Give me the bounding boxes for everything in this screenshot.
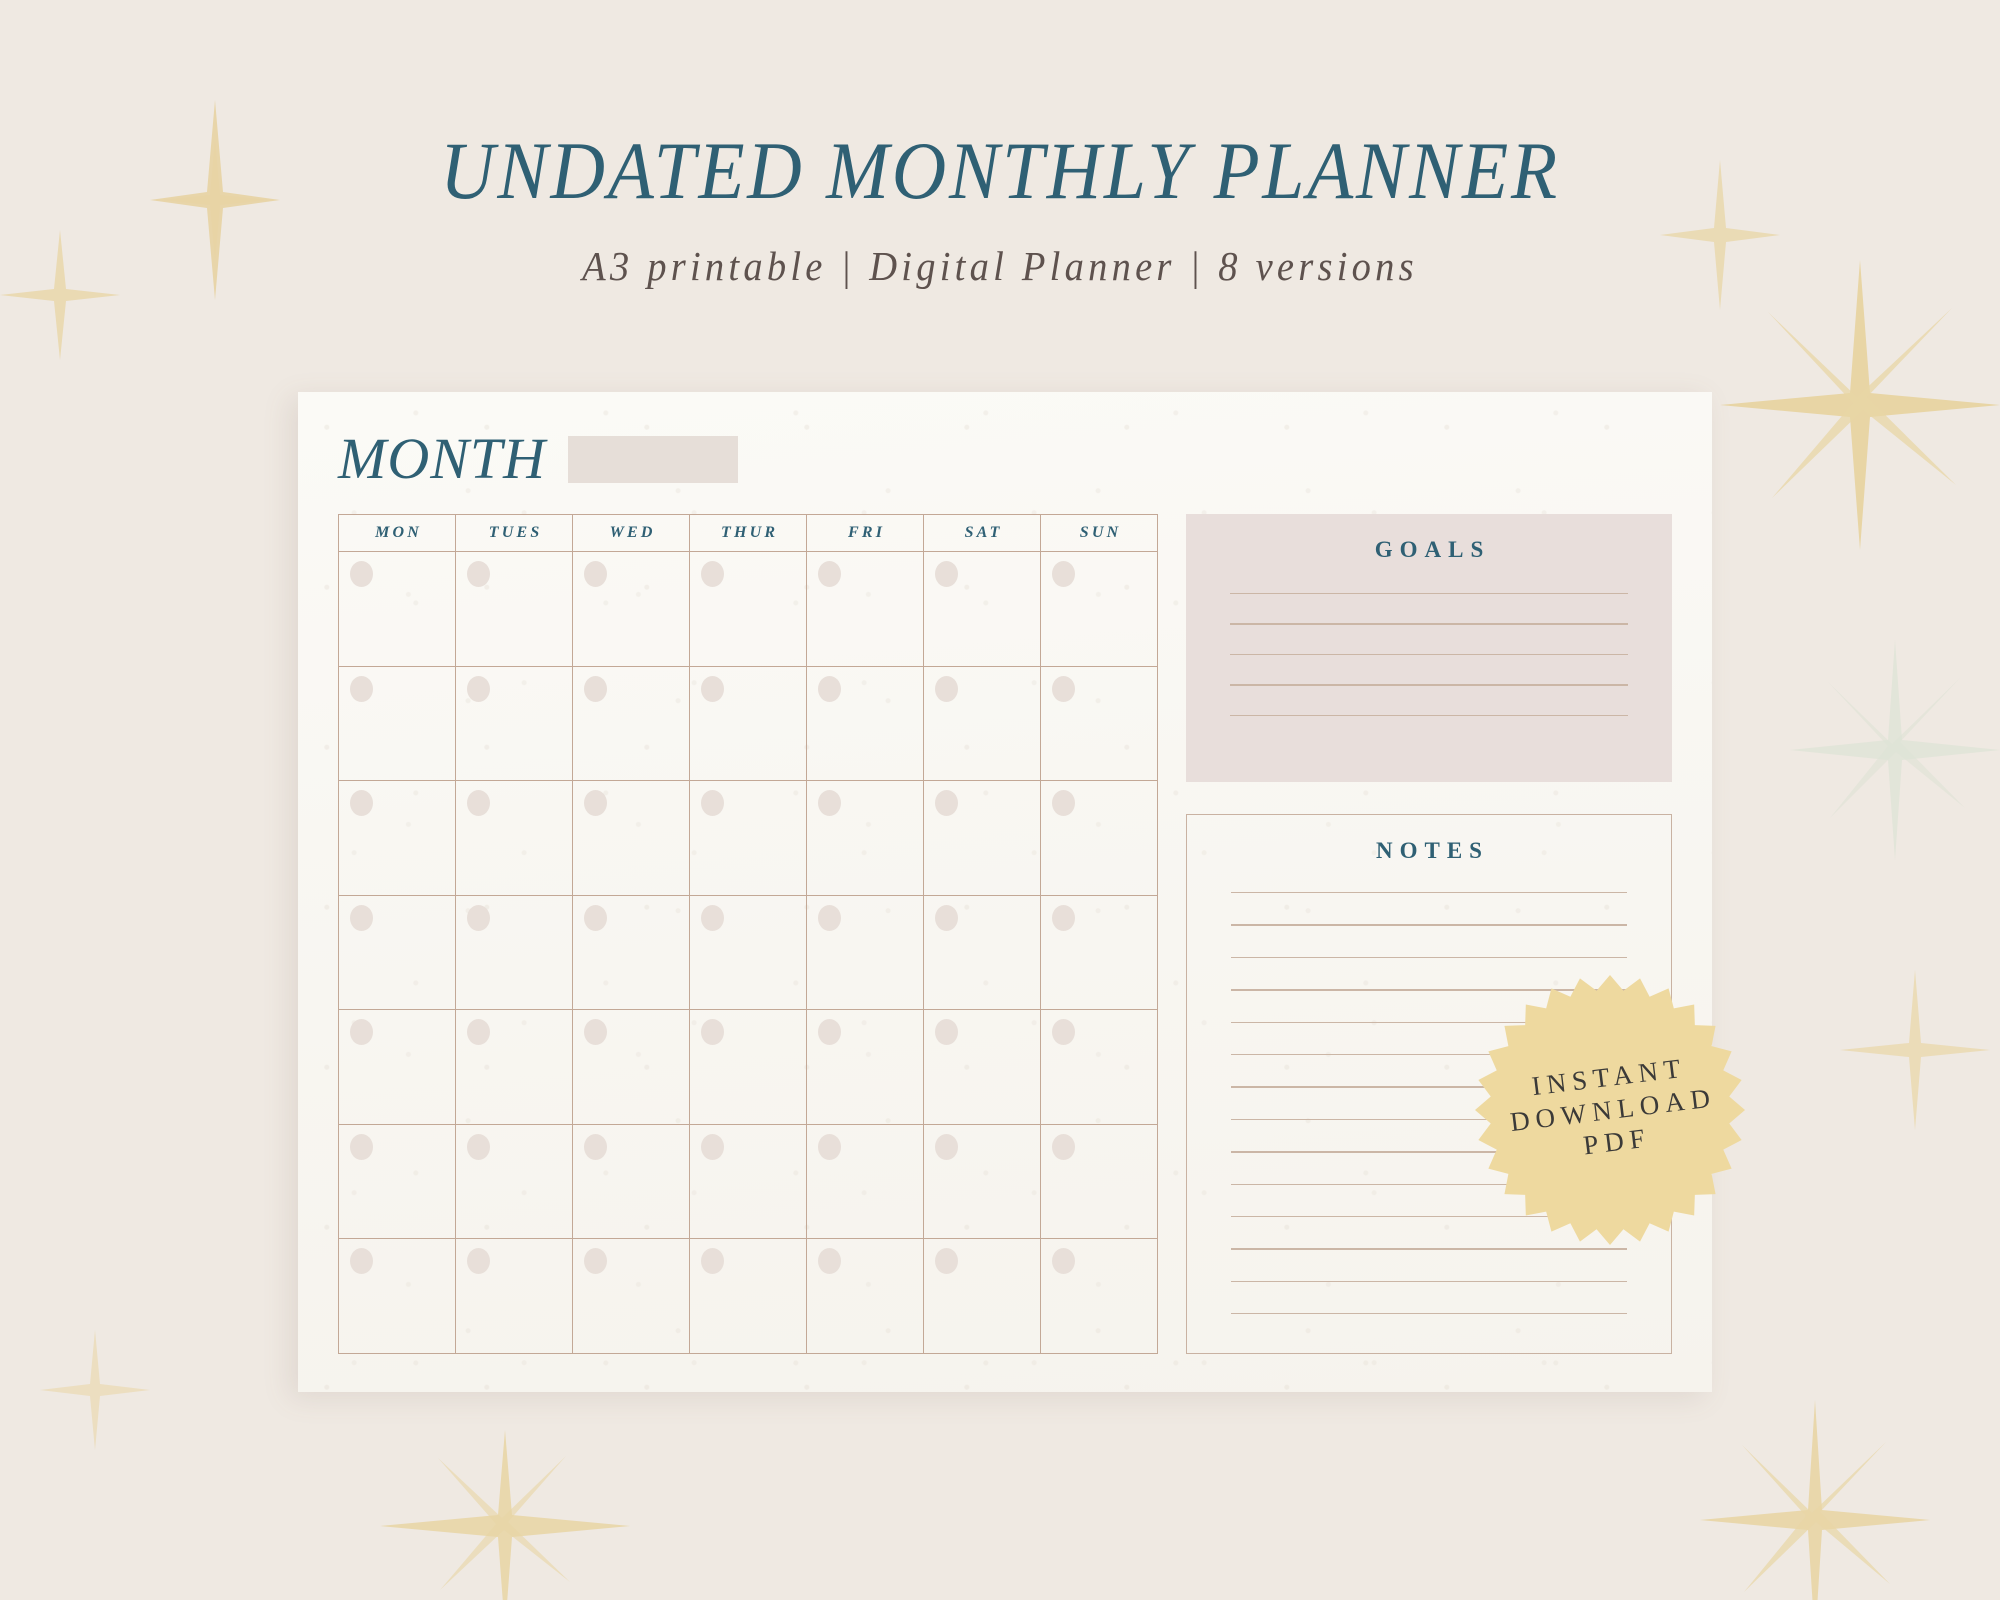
calendar-week-row	[339, 1239, 1158, 1353]
goals-write-line[interactable]	[1230, 715, 1628, 716]
day-number-dot	[350, 1248, 373, 1274]
goals-write-line[interactable]	[1230, 684, 1628, 685]
day-number-dot	[467, 1248, 490, 1274]
day-number-dot	[584, 790, 607, 816]
day-number-dot	[818, 790, 841, 816]
day-number-dot	[818, 1019, 841, 1045]
calendar-week-row	[339, 781, 1158, 896]
page-title: UNDATED MONTHLY PLANNER	[80, 130, 1920, 212]
goals-write-line[interactable]	[1230, 593, 1628, 594]
calendar-day-cell[interactable]	[573, 1125, 690, 1239]
calendar-day-cell[interactable]	[456, 896, 573, 1010]
day-number-dot	[818, 1134, 841, 1160]
weekday-header-wed: WED	[573, 515, 690, 551]
calendar-day-cell[interactable]	[807, 896, 924, 1010]
day-number-dot	[584, 905, 607, 931]
day-number-dot	[350, 561, 373, 587]
calendar-day-cell[interactable]	[1041, 1010, 1158, 1124]
calendar-day-cell[interactable]	[1041, 552, 1158, 666]
calendar-day-cell[interactable]	[807, 552, 924, 666]
day-number-dot	[584, 561, 607, 587]
calendar-day-cell[interactable]	[573, 1239, 690, 1353]
calendar-day-cell[interactable]	[924, 667, 1041, 781]
instant-download-badge: INSTANT DOWNLOAD PDF	[1475, 975, 1745, 1245]
calendar-grid: MONTUESWEDTHURFRISATSUN	[338, 514, 1158, 1354]
day-number-dot	[935, 905, 958, 931]
day-number-dot	[935, 561, 958, 587]
calendar-week-row	[339, 667, 1158, 782]
calendar-day-cell[interactable]	[807, 781, 924, 895]
calendar-day-cell[interactable]	[456, 1010, 573, 1124]
weekday-header-thur: THUR	[690, 515, 807, 551]
weekday-header-mon: MON	[339, 515, 456, 551]
calendar-day-cell[interactable]	[339, 1125, 456, 1239]
day-number-dot	[701, 905, 724, 931]
page-header: UNDATED MONTHLY PLANNER A3 printable | D…	[0, 0, 2000, 287]
goals-lines[interactable]	[1230, 593, 1628, 716]
calendar-day-cell[interactable]	[1041, 896, 1158, 1010]
day-number-dot	[935, 1248, 958, 1274]
calendar-day-cell[interactable]	[1041, 1125, 1158, 1239]
calendar-day-cell[interactable]	[807, 667, 924, 781]
month-row: MONTH	[338, 430, 738, 488]
calendar-day-cell[interactable]	[924, 1125, 1041, 1239]
notes-write-line[interactable]	[1231, 924, 1627, 925]
day-number-dot	[584, 676, 607, 702]
badge-text: INSTANT DOWNLOAD PDF	[1460, 960, 1761, 1261]
calendar-day-cell[interactable]	[339, 781, 456, 895]
sparkle-icon	[1790, 640, 2000, 860]
calendar-day-cell[interactable]	[924, 1239, 1041, 1353]
goals-section: GOALS	[1186, 514, 1672, 782]
day-number-dot	[584, 1019, 607, 1045]
day-number-dot	[818, 905, 841, 931]
calendar-day-cell[interactable]	[690, 1239, 807, 1353]
day-number-dot	[350, 905, 373, 931]
calendar-day-cell[interactable]	[807, 1125, 924, 1239]
sparkle-icon	[40, 1330, 150, 1450]
day-number-dot	[350, 790, 373, 816]
calendar-day-cell[interactable]	[339, 1239, 456, 1353]
calendar-day-cell[interactable]	[690, 896, 807, 1010]
calendar-day-cell[interactable]	[1041, 1239, 1158, 1353]
weekday-header-fri: FRI	[807, 515, 924, 551]
calendar-day-cell[interactable]	[339, 1010, 456, 1124]
day-number-dot	[935, 790, 958, 816]
calendar-day-cell[interactable]	[924, 781, 1041, 895]
day-number-dot	[701, 676, 724, 702]
weekday-header-tues: TUES	[456, 515, 573, 551]
day-number-dot	[935, 676, 958, 702]
calendar-day-cell[interactable]	[456, 552, 573, 666]
calendar-day-cell[interactable]	[807, 1010, 924, 1124]
notes-write-line[interactable]	[1231, 892, 1627, 893]
weekday-header-sun: SUN	[1041, 515, 1158, 551]
calendar-day-cell[interactable]	[339, 552, 456, 666]
month-label: MONTH	[338, 430, 546, 488]
day-number-dot	[584, 1134, 607, 1160]
calendar-day-cell[interactable]	[573, 781, 690, 895]
calendar-day-cell[interactable]	[456, 1125, 573, 1239]
day-number-dot	[350, 676, 373, 702]
goals-title: GOALS	[1230, 538, 1628, 561]
calendar-day-cell[interactable]	[690, 667, 807, 781]
calendar-day-cell[interactable]	[807, 1239, 924, 1353]
notes-title: NOTES	[1231, 839, 1627, 862]
day-number-dot	[584, 1248, 607, 1274]
sparkle-icon	[1840, 970, 1990, 1130]
day-number-dot	[701, 1134, 724, 1160]
day-number-dot	[818, 676, 841, 702]
day-number-dot	[467, 790, 490, 816]
goals-write-line[interactable]	[1230, 654, 1628, 655]
day-number-dot	[467, 1134, 490, 1160]
calendar-day-cell[interactable]	[456, 667, 573, 781]
goals-write-line[interactable]	[1230, 623, 1628, 624]
sparkle-icon	[1720, 260, 2000, 550]
calendar-day-cell[interactable]	[690, 552, 807, 666]
day-number-dot	[1052, 1134, 1075, 1160]
calendar-day-cell[interactable]	[573, 896, 690, 1010]
calendar-day-cell[interactable]	[1041, 781, 1158, 895]
day-number-dot	[818, 1248, 841, 1274]
calendar-day-cell[interactable]	[456, 781, 573, 895]
calendar-week-row	[339, 896, 1158, 1011]
calendar-day-cell[interactable]	[573, 667, 690, 781]
calendar-day-cell[interactable]	[456, 1239, 573, 1353]
day-number-dot	[701, 1248, 724, 1274]
calendar-body	[338, 552, 1158, 1354]
day-number-dot	[350, 1134, 373, 1160]
day-number-dot	[350, 1019, 373, 1045]
weekday-header-sat: SAT	[924, 515, 1041, 551]
calendar-week-row	[339, 1125, 1158, 1240]
day-number-dot	[467, 905, 490, 931]
calendar-day-cell[interactable]	[1041, 667, 1158, 781]
calendar-day-cell[interactable]	[924, 1010, 1041, 1124]
calendar-day-cell[interactable]	[573, 552, 690, 666]
day-number-dot	[701, 790, 724, 816]
calendar-day-cell[interactable]	[690, 1010, 807, 1124]
calendar-day-cell[interactable]	[924, 896, 1041, 1010]
day-number-dot	[1052, 561, 1075, 587]
day-number-dot	[467, 676, 490, 702]
day-number-dot	[467, 1019, 490, 1045]
calendar-week-row	[339, 1010, 1158, 1125]
calendar-day-cell[interactable]	[690, 781, 807, 895]
sparkle-icon	[380, 1430, 630, 1600]
page-subtitle: A3 printable | Digital Planner | 8 versi…	[60, 246, 1940, 287]
day-number-dot	[1052, 676, 1075, 702]
calendar-day-cell[interactable]	[339, 667, 456, 781]
day-number-dot	[701, 561, 724, 587]
calendar-day-cell[interactable]	[924, 552, 1041, 666]
day-number-dot	[935, 1134, 958, 1160]
day-number-dot	[1052, 790, 1075, 816]
notes-write-line[interactable]	[1231, 1281, 1627, 1282]
calendar-day-cell[interactable]	[339, 896, 456, 1010]
weekday-header-row: MONTUESWEDTHURFRISATSUN	[338, 514, 1158, 552]
sparkle-icon	[1700, 1400, 1930, 1600]
calendar-day-cell[interactable]	[690, 1125, 807, 1239]
month-input[interactable]	[568, 436, 738, 483]
notes-write-line[interactable]	[1231, 957, 1627, 958]
day-number-dot	[701, 1019, 724, 1045]
calendar-week-row	[339, 552, 1158, 667]
day-number-dot	[1052, 905, 1075, 931]
calendar-day-cell[interactable]	[573, 1010, 690, 1124]
notes-write-line[interactable]	[1231, 1313, 1627, 1314]
day-number-dot	[1052, 1019, 1075, 1045]
day-number-dot	[467, 561, 490, 587]
day-number-dot	[935, 1019, 958, 1045]
day-number-dot	[818, 561, 841, 587]
day-number-dot	[1052, 1248, 1075, 1274]
